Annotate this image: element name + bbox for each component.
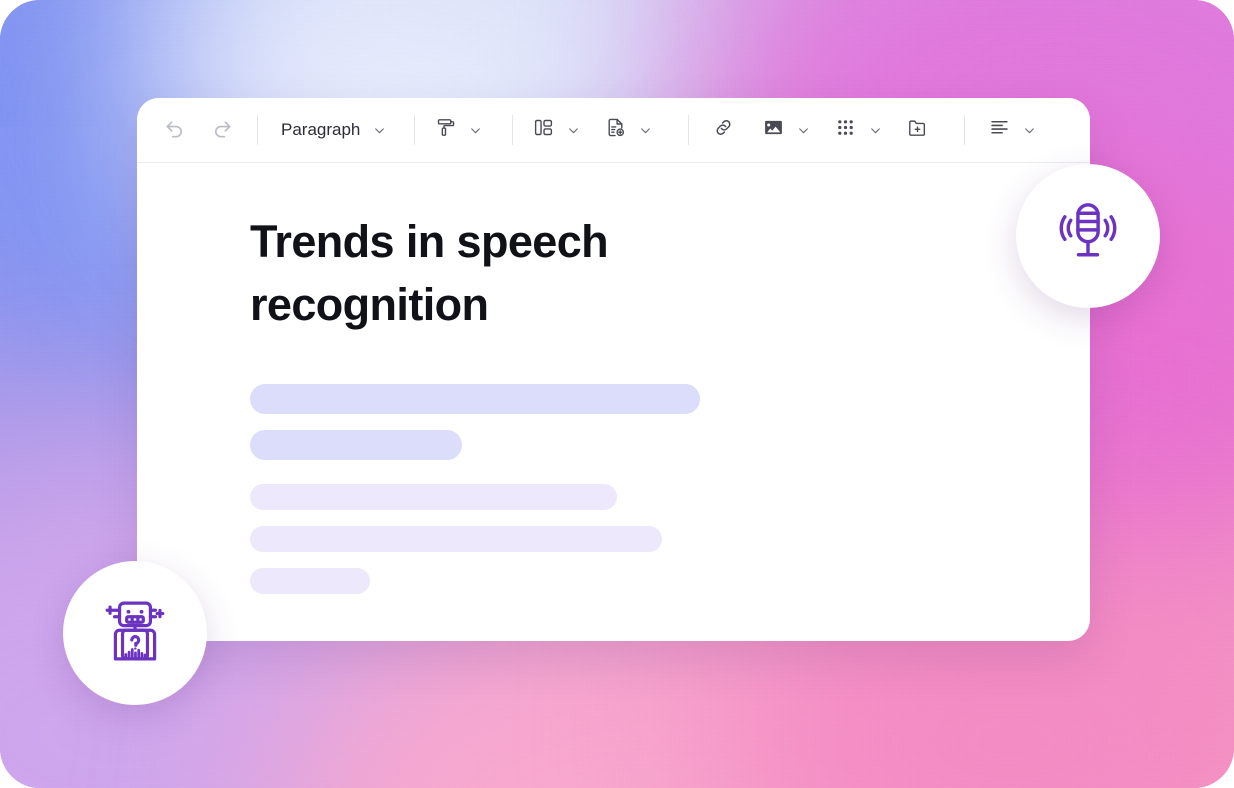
robot-badge[interactable] — [63, 561, 207, 705]
toolbar-group-history — [157, 113, 239, 147]
insert-image-button[interactable] — [756, 113, 790, 147]
undo-button[interactable] — [157, 113, 191, 147]
microphone-waves-icon — [1050, 196, 1126, 277]
insert-image-caret[interactable] — [790, 113, 816, 147]
paragraph-style-select[interactable]: Paragraph — [271, 113, 366, 147]
editor-toolbar: Paragraph — [137, 98, 1090, 163]
layout-columns-icon — [533, 117, 554, 143]
apps-grid-caret[interactable] — [862, 113, 888, 147]
align-left-caret[interactable] — [1016, 113, 1042, 147]
toolbar-divider-5 — [964, 115, 965, 145]
microphone-badge[interactable] — [1016, 164, 1160, 308]
new-folder-button[interactable] — [900, 113, 934, 147]
insert-link-button[interactable] — [706, 113, 740, 147]
grid-dots-icon — [835, 117, 856, 143]
redo-button[interactable] — [205, 113, 239, 147]
toolbar-divider-3 — [512, 115, 513, 145]
folder-plus-icon — [907, 117, 928, 143]
skeleton-line — [250, 430, 462, 460]
toolbar-divider-2 — [414, 115, 415, 145]
toolbar-group-style: Paragraph — [271, 113, 392, 147]
toolbar-divider — [257, 115, 258, 145]
apps-grid-button[interactable] — [828, 113, 862, 147]
format-painter-button[interactable] — [428, 113, 462, 147]
page-title: Trends in speech recognition — [250, 210, 670, 336]
paint-roller-icon — [435, 117, 456, 143]
skeleton-line — [250, 484, 617, 510]
skeleton-line — [250, 526, 662, 552]
document-editor-card: Paragraph — [137, 98, 1090, 641]
align-left-button[interactable] — [982, 113, 1016, 147]
link-icon — [713, 117, 734, 143]
skeleton-line — [250, 384, 700, 414]
document-plus-icon — [605, 117, 626, 143]
insert-template-caret[interactable] — [632, 113, 658, 147]
toolbar-group-insert — [702, 113, 934, 147]
gradient-backdrop: Paragraph — [0, 0, 1234, 788]
insert-template-button[interactable] — [598, 113, 632, 147]
content-skeleton — [250, 384, 1090, 594]
document-body[interactable]: Trends in speech recognition — [137, 163, 1090, 594]
toolbar-group-formatting — [428, 113, 488, 147]
undo-icon — [163, 116, 186, 144]
layout-columns-button[interactable] — [526, 113, 560, 147]
toolbar-divider-4 — [688, 115, 689, 145]
skeleton-line — [250, 568, 370, 594]
align-left-icon — [989, 117, 1010, 143]
image-icon — [763, 117, 784, 143]
layout-columns-caret[interactable] — [560, 113, 586, 147]
paragraph-style-caret[interactable] — [366, 113, 392, 147]
robot-question-icon — [97, 593, 173, 674]
format-painter-caret[interactable] — [462, 113, 488, 147]
toolbar-group-alignment — [978, 113, 1042, 147]
redo-icon — [211, 116, 234, 144]
toolbar-group-layout — [526, 113, 658, 147]
